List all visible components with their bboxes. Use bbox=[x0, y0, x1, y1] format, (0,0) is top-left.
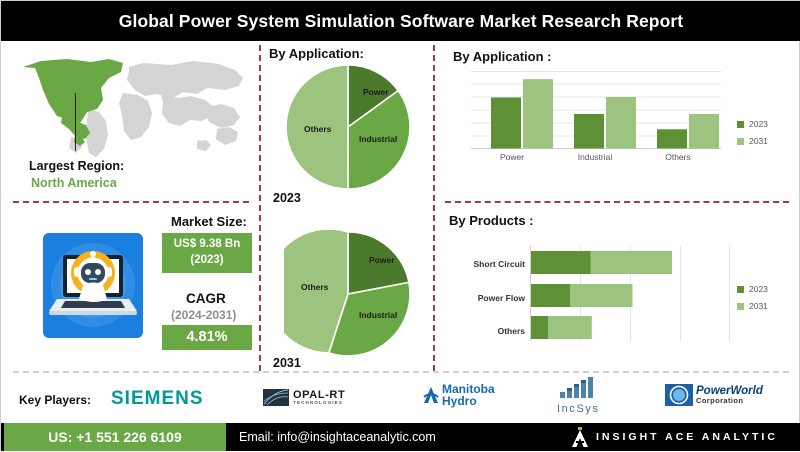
cagr-label: CAGR bbox=[186, 291, 226, 306]
market-size-label: Market Size: bbox=[171, 214, 247, 229]
pie-2031-label-power: Power bbox=[369, 255, 395, 265]
pie-2031-label-industrial: Industrial bbox=[359, 310, 397, 320]
pie-2023-label-power: Power bbox=[363, 87, 389, 97]
legend-swatch-2023 bbox=[737, 121, 744, 128]
market-size-value-box: US$ 9.38 Bn (2023) bbox=[162, 233, 252, 273]
legend-item-2031: 2031 bbox=[737, 136, 768, 146]
legend-label-products-2023: 2023 bbox=[749, 284, 768, 294]
legend-swatch-products-2023 bbox=[737, 286, 744, 293]
footer-phone[interactable]: US: +1 551 226 6109 bbox=[4, 423, 226, 451]
divider-vertical-left bbox=[259, 45, 261, 371]
laptop-chatbot-icon bbox=[43, 233, 143, 338]
logo-powerworld: PowerWorld Corporation bbox=[665, 384, 763, 406]
pie-2023-year: 2023 bbox=[273, 191, 301, 205]
pie-chart-2031 bbox=[284, 230, 412, 363]
logo-opal-rt: OPAL-RT TECHNOLOGIES bbox=[263, 389, 345, 406]
bar-products-legend: 2023 2031 bbox=[737, 284, 768, 318]
world-map-icon bbox=[11, 49, 251, 159]
logo-manitoba-sub: Hydro bbox=[442, 395, 495, 407]
footer-brand: INSIGHT ACE ANALYTIC bbox=[596, 423, 778, 451]
manitoba-hydro-mark-icon bbox=[422, 385, 440, 405]
logo-powerworld-sub: Corporation bbox=[696, 397, 763, 405]
footer-email[interactable]: Email: info@insightaceanalytic.com bbox=[239, 423, 436, 451]
bar-application-xtick-others: Others bbox=[648, 152, 708, 162]
largest-region-value: North America bbox=[31, 176, 117, 190]
pie-2031-label-others: Others bbox=[301, 282, 328, 292]
divider-vertical-right bbox=[433, 45, 435, 371]
market-size-year: (2023) bbox=[190, 253, 223, 269]
incsys-bars-icon bbox=[558, 377, 598, 399]
bar-application-xtick-power: Power bbox=[482, 152, 542, 162]
bar-application-xtick-industrial: Industrial bbox=[565, 152, 625, 162]
divider-horizontal-right bbox=[445, 201, 789, 203]
infographic-page: Global Power System Simulation Software … bbox=[0, 0, 800, 450]
bar-products-ytick-others: Others bbox=[453, 326, 525, 336]
pie-2031-year: 2031 bbox=[273, 356, 301, 370]
pie-2023-label-industrial: Industrial bbox=[359, 134, 397, 144]
legend-swatch-products-2031 bbox=[737, 303, 744, 310]
bar-application-legend: 2023 2031 bbox=[737, 119, 768, 153]
bar-products-title: By Products : bbox=[449, 213, 534, 228]
logo-incsys: IncSys bbox=[557, 377, 600, 415]
legend-label-2031: 2031 bbox=[749, 136, 768, 146]
pie-2023-label-others: Others bbox=[304, 124, 331, 134]
legend-label-2023: 2023 bbox=[749, 119, 768, 129]
legend-label-products-2031: 2031 bbox=[749, 301, 768, 311]
bar-products-ytick-power-flow: Power Flow bbox=[453, 293, 525, 303]
logo-incsys-name: IncSys bbox=[557, 403, 600, 415]
logo-manitoba-hydro: Manitoba Hydro bbox=[422, 383, 495, 407]
map-leader-line bbox=[75, 93, 76, 151]
opal-rt-mark-icon bbox=[263, 389, 289, 406]
bar-products-chart bbox=[530, 245, 730, 346]
powerworld-mark-icon bbox=[665, 384, 693, 406]
legend-item-2023: 2023 bbox=[737, 119, 768, 129]
divider-horizontal-bottom bbox=[13, 371, 789, 373]
bar-application-title: By Application : bbox=[453, 49, 551, 64]
bar-products-ytick-short-circuit: Short Circuit bbox=[453, 259, 525, 269]
legend-item-products-2023: 2023 bbox=[737, 284, 768, 294]
logo-opal-rt-sub: TECHNOLOGIES bbox=[293, 401, 345, 406]
bar-application-chart bbox=[471, 71, 721, 154]
cagr-value: 4.81% bbox=[186, 328, 227, 348]
header-bar: Global Power System Simulation Software … bbox=[1, 1, 800, 41]
market-size-value: US$ 9.38 Bn bbox=[174, 237, 240, 253]
cagr-value-box: 4.81% bbox=[162, 325, 252, 350]
largest-region-label: Largest Region: bbox=[29, 159, 124, 173]
a-logo-icon bbox=[571, 427, 589, 447]
legend-item-products-2031: 2031 bbox=[737, 301, 768, 311]
legend-swatch-2031 bbox=[737, 138, 744, 145]
page-title: Global Power System Simulation Software … bbox=[1, 1, 800, 41]
pie-section-title: By Application: bbox=[269, 46, 364, 61]
key-players-label: Key Players: bbox=[19, 393, 91, 407]
cagr-years: (2024-2031) bbox=[171, 308, 236, 322]
divider-horizontal-left bbox=[13, 201, 249, 203]
logo-siemens: SIEMENS bbox=[111, 388, 204, 410]
